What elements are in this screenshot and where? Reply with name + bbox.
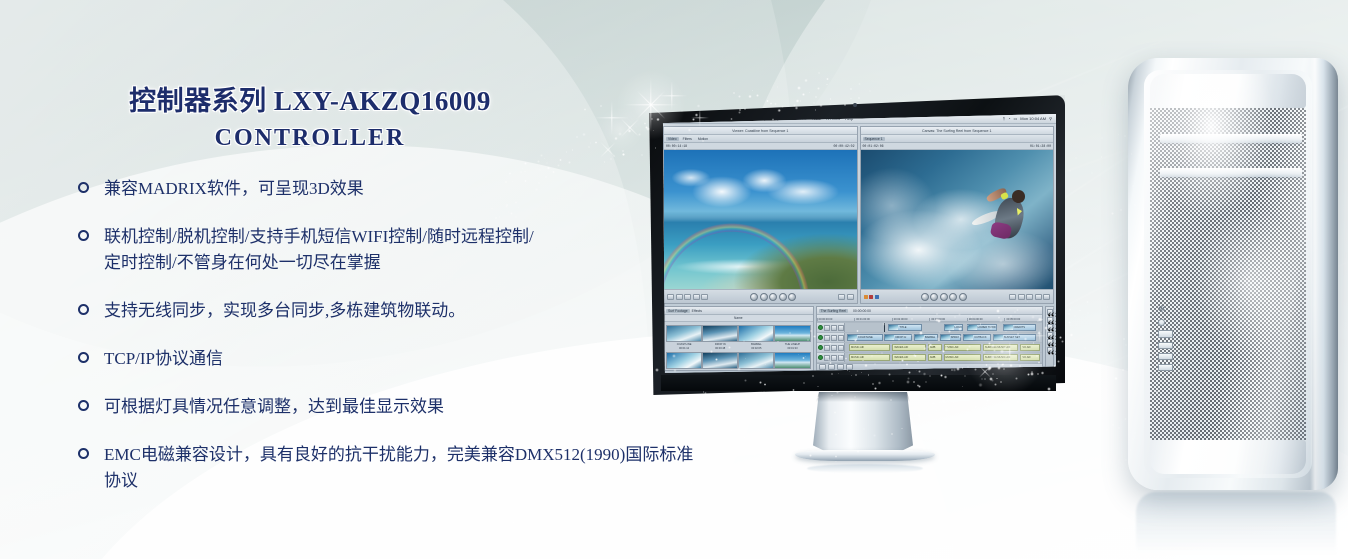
clip-label: MUSIC.AIF: [945, 356, 959, 359]
stand-reflection: [807, 464, 923, 473]
sparkle-dot: [708, 487, 709, 488]
clip-filmstrip-thumb: [889, 325, 898, 330]
clip-filmstrip-thumb: [1004, 325, 1013, 330]
sparkle-dot: [939, 437, 942, 440]
razor-tool-icon[interactable]: [1047, 317, 1053, 323]
search-icon[interactable]: ⚲: [1049, 116, 1052, 121]
sparkle-dot: [945, 419, 948, 422]
sparkle-dot: [970, 434, 971, 435]
optical-drive-slot-2[interactable]: [1160, 168, 1302, 177]
sparkle-dot: [770, 466, 773, 469]
surfer-head: [1012, 190, 1025, 203]
sparkle-dot: [1075, 157, 1077, 159]
track-lane[interactable]: MUSIC.AIFWAVES.AIFAMBMUSIC.AIFSURFING MU…: [845, 353, 1042, 362]
sparkle-dot: [1076, 324, 1077, 325]
sparkle-dot: [759, 433, 761, 435]
product-banner: 控制器系列 LXY-AKZQ16009 CONTROLLER 兼容MADRIX软…: [0, 0, 1348, 559]
clip-thumbnail: [702, 325, 738, 342]
clip-label: MUSIC.AIF: [850, 356, 864, 359]
crop-tool-icon[interactable]: [1047, 332, 1053, 338]
clip-label: LOWER THIRD: [977, 326, 996, 329]
clip-thumbnail: [774, 325, 810, 342]
camera-dot-icon: [853, 103, 857, 107]
track-toggle-icon[interactable]: [838, 355, 844, 361]
clip-name: THE LINEUP: [785, 343, 800, 346]
clip-filmstrip-thumb: [964, 335, 973, 340]
canvas-title: Canvas: The Surfing Reel from Sequence 1: [861, 127, 1054, 135]
perforated-mesh-panel-overlay: [1150, 108, 1306, 440]
sparkle-dot: [1074, 338, 1075, 339]
feature-text-line: 联机控制/脱机控制/支持手机短信WIFI控制/随时远程控制/: [104, 224, 700, 250]
sparkle-dot: [1120, 259, 1121, 260]
feature-text-line: 定时控制/不管身在何处一切尽在掌握: [104, 250, 700, 276]
clip-label: VO.AIF: [1021, 346, 1031, 349]
sparkle-dot: [1079, 310, 1080, 311]
feature-item: 支持无线同步，实现多台同步,多栋建筑物联动。: [104, 298, 700, 324]
timeline-clip[interactable]: VO.AIF: [1020, 344, 1040, 351]
clip-filmstrip-thumb: [848, 335, 857, 340]
sparkle-dot: [1118, 427, 1120, 429]
sparkle-dot: [1091, 350, 1094, 353]
headphone-jack-icon[interactable]: [1158, 319, 1165, 326]
tower-port-cluster[interactable]: ✻: [1158, 306, 1184, 371]
timeline-tab[interactable]: The Surfing Reel: [819, 309, 848, 313]
bullet-ring-icon: [78, 448, 89, 459]
sparkle-dot: [1079, 366, 1082, 369]
hand-tool-icon[interactable]: [1047, 347, 1053, 353]
canvas-overlay-chips[interactable]: [864, 295, 879, 299]
menu-bar-status-items[interactable]: ᛗ◔▭Mon 10:04 AM⚲: [1003, 116, 1052, 121]
sparkle-dot: [1007, 415, 1010, 418]
clip-name: BARREL: [751, 343, 761, 346]
video-editor-app:  Final Cut ProFileEditViewMarkModifySeq…: [661, 114, 1056, 373]
tower-computer: ✻: [1128, 58, 1338, 490]
feature-item: TCP/IP协议通信: [104, 346, 700, 372]
sparkle-dot: [1081, 219, 1082, 220]
sparkle-dot: [1093, 228, 1094, 229]
sparkle-dot: [1079, 443, 1081, 445]
sparkle-dot: [1090, 399, 1092, 401]
viewer-edit-buttons[interactable]: [838, 294, 854, 300]
sparkle-dot: [1016, 400, 1020, 404]
sparkle-dot: [1094, 120, 1095, 121]
clip-filmstrip-thumb: [885, 335, 894, 340]
sparkle-dot: [1067, 445, 1068, 446]
sparkle-dot: [1087, 312, 1089, 314]
timeline-clip[interactable]: SPRAY: [940, 334, 962, 341]
sparkle-dot: [1125, 344, 1127, 346]
clip-duration: 00:02:05: [751, 347, 761, 350]
sparkle-dot: [809, 92, 810, 93]
track-toggle-icon[interactable]: [838, 335, 844, 341]
sparkle-dot: [826, 84, 828, 86]
track-toggle-icon[interactable]: [831, 325, 837, 331]
sparkle-dot: [544, 517, 546, 519]
sparkle-dot: [1084, 123, 1085, 124]
track-toggle-icon[interactable]: [831, 355, 837, 361]
sparkle-dot: [797, 86, 801, 90]
lower-panels: Surf FootageEffects Name COASTLINE00:01:…: [661, 306, 1056, 373]
sparkle-dot: [952, 401, 955, 404]
tool-palette[interactable]: [1045, 306, 1054, 371]
timeline-clip[interactable]: MUSIC.AIF: [849, 344, 890, 351]
sparkle-dot: [1041, 398, 1044, 401]
optical-drive-slot-1[interactable]: [1160, 134, 1302, 143]
ruler-tick-label: 00:05:00:00: [1004, 318, 1042, 321]
feature-list: 兼容MADRIX软件，可呈现3D效果联机控制/脱机控制/支持手机短信WIFI控制…: [0, 176, 700, 494]
track-header[interactable]: [817, 333, 846, 342]
sparkle-dot: [768, 411, 770, 413]
timeline-clip[interactable]: BARREL: [914, 334, 938, 341]
clip-label: MUSIC.AIF: [945, 346, 959, 349]
page-title: 控制器系列 LXY-AKZQ16009: [30, 84, 590, 118]
sparkle-dot: [723, 444, 725, 446]
sparkle-dot: [1096, 404, 1097, 405]
track-enable-led-icon[interactable]: [818, 325, 823, 330]
sparkle-dot: [481, 538, 483, 540]
timeline-track[interactable]: MUSIC.AIFWAVES.AIFAMBMUSIC.AIFSURFING MU…: [817, 343, 1042, 352]
track-toggle-icon[interactable]: [824, 345, 830, 351]
sparkle-dot: [984, 406, 987, 409]
sparkle-dot: [743, 436, 746, 439]
clip-duration: 00:00:48: [715, 347, 725, 350]
clip-name: DROP IN: [715, 343, 726, 346]
sparkle-dot: [826, 78, 828, 80]
sparkle-dot: [489, 534, 491, 536]
sparkle-dot: [1036, 402, 1038, 404]
clip-filmstrip-thumb: [945, 325, 954, 330]
clip-label: CREDITS: [1013, 326, 1025, 329]
sparkle-dot: [998, 408, 1000, 410]
menu-bar-clock[interactable]: Mon 10:04 AM: [1020, 116, 1046, 121]
feature-text-line: 可根据灯具情况任意调整，达到最佳显示效果: [104, 394, 700, 420]
sparkle-dot: [1123, 338, 1125, 340]
sparkle-dot: [1077, 445, 1079, 447]
sparkle-dot: [1068, 321, 1072, 325]
feature-item: EMC电磁兼容设计，具有良好的抗干扰能力，完美兼容DMX512(1990)国际标…: [104, 442, 700, 494]
sparkle-dot: [1005, 408, 1008, 411]
usb-port-icon-3[interactable]: [1158, 364, 1173, 371]
timeline-clip[interactable]: SURFING MUSIC.AIF: [983, 344, 1018, 351]
page-subtitle: CONTROLLER: [30, 118, 590, 158]
sparkle-dot: [858, 83, 860, 85]
sparkle-dot: [738, 480, 739, 481]
clip-label: SURFING MUSIC.AIF: [984, 356, 1011, 359]
timeline-clip[interactable]: AMB: [928, 354, 942, 361]
canvas-edit-buttons[interactable]: [1009, 294, 1050, 300]
feature-text-line: EMC电磁兼容设计，具有良好的抗干扰能力，完美兼容DMX512(1990)国际标…: [104, 442, 700, 494]
sparkle-dot: [1073, 459, 1075, 461]
firewire-star-icon: ✻: [1158, 306, 1167, 315]
timeline-track[interactable]: TITLELOGOLOWER THIRDCREDITS: [817, 323, 1042, 332]
sparkle-dot: [1069, 324, 1071, 326]
feature-text-line: TCP/IP协议通信: [104, 346, 700, 372]
sparkle-dot: [1078, 375, 1080, 377]
track-toggle-icon[interactable]: [824, 355, 830, 361]
sparkle-dot: [817, 87, 820, 90]
sparkle-dot: [869, 90, 871, 92]
pen-tool-icon[interactable]: [1047, 339, 1053, 345]
sparkle-dot: [972, 423, 976, 427]
clip-label: COASTLINE: [857, 336, 873, 339]
feature-item: 兼容MADRIX软件，可呈现3D效果: [104, 176, 700, 202]
track-toggle-icon[interactable]: [824, 335, 830, 341]
timeline-panel[interactable]: The Surfing Reel00:00:00:00 00:00:00:000…: [816, 306, 1043, 371]
sparkle-dot: [1074, 315, 1076, 317]
viewer-playback-buttons[interactable]: [750, 293, 796, 301]
sparkle-dot: [1091, 172, 1093, 174]
bullet-ring-icon: [78, 304, 89, 315]
sparkle-dot: [1069, 170, 1071, 172]
battery-icon[interactable]: ▭: [1013, 116, 1017, 121]
timeline-clip[interactable]: DROP IN: [884, 334, 912, 341]
track-lane[interactable]: MUSIC.AIFWAVES.AIFAMBMUSIC.AIFSURFING MU…: [845, 343, 1042, 352]
sparkle-dot: [1122, 369, 1124, 371]
usb-port-icon-2[interactable]: [1158, 353, 1173, 360]
sparkle-dot: [987, 408, 989, 410]
display-screen:  Final Cut ProFileEditViewMarkModifySeq…: [661, 114, 1056, 373]
sparkle-dot: [1073, 350, 1074, 351]
timeline-clip[interactable]: LOWER THIRD: [967, 324, 997, 331]
sparkle-dot: [754, 454, 756, 456]
display-chin: [661, 375, 1056, 391]
sparkle-dot: [1107, 153, 1108, 154]
sparkle-dot: [850, 88, 852, 90]
browser-clip-item[interactable]: DROP IN00:00:48: [703, 325, 737, 350]
timeline-clip[interactable]: MUSIC.AIF: [944, 354, 981, 361]
timeline-track[interactable]: COASTLINEDROP INBARRELSPRAYCUTBACKSUNSET…: [817, 333, 1042, 342]
track-header[interactable]: [817, 343, 846, 352]
sparkle-dot: [1022, 400, 1024, 402]
timeline-clip[interactable]: SURFING MUSIC.AIF: [983, 354, 1018, 361]
feature-text-line: 兼容MADRIX软件，可呈现3D效果: [104, 176, 700, 202]
timeline-tracks[interactable]: TITLELOGOLOWER THIRDCREDITSCOASTLINEDROP…: [817, 322, 1042, 363]
browser-clip-item[interactable]: SUNSET SET00:03:10: [775, 352, 809, 370]
copy-column: 控制器系列 LXY-AKZQ16009 CONTROLLER 兼容MADRIX软…: [0, 0, 700, 516]
timeline-clip[interactable]: TITLE: [888, 324, 922, 331]
playhead[interactable]: [884, 323, 885, 332]
clip-label: VO.AIF: [1021, 356, 1031, 359]
clip-thumbnail: [702, 352, 738, 369]
sparkle-dot: [1100, 322, 1102, 324]
timeline-clip[interactable]: VO.AIF: [1020, 354, 1040, 361]
sparkle-dot: [1068, 428, 1069, 429]
track-enable-led-icon[interactable]: [818, 355, 823, 360]
track-lane[interactable]: TITLELOGOLOWER THIRDCREDITS: [845, 323, 1042, 332]
sparkle-dot: [1081, 155, 1082, 156]
clip-label: AMB: [929, 356, 936, 359]
sparkle-dot: [1113, 395, 1114, 396]
clip-label: AMB: [929, 346, 936, 349]
canvas-timecode-right: 01:01:28:00: [1030, 144, 1051, 148]
sparkle-dot: [1124, 418, 1126, 420]
sparkle-dot: [740, 477, 743, 480]
track-enable-led-icon[interactable]: [818, 345, 823, 350]
browser-clip-item[interactable]: CUTBACK00:00:52: [739, 352, 773, 370]
sparkle-dot: [1112, 424, 1114, 426]
ruler-tick-label: 00:00:00:00: [817, 318, 855, 321]
sparkle-dot: [804, 79, 808, 83]
browser-clip-item[interactable]: PADDLE OUT00:01:04: [703, 352, 737, 370]
sparkle-dot: [756, 398, 760, 402]
sparkle-dot: [1051, 398, 1053, 400]
sparkle-dot: [1025, 413, 1027, 415]
browser-clip-item[interactable]: BARREL00:02:05: [739, 325, 773, 350]
browser-clip-item[interactable]: THE LINEUP00:01:33: [775, 325, 809, 350]
sparkle-dot: [960, 436, 963, 439]
wifi-icon[interactable]: ◔: [1008, 116, 1010, 121]
sparkle-dot: [1112, 280, 1113, 281]
clip-label: SPRAY: [950, 336, 960, 339]
bullet-ring-icon: [78, 182, 89, 193]
track-lane[interactable]: COASTLINEDROP INBARRELSPRAYCUTBACKSUNSET…: [845, 333, 1042, 342]
sparkle-dot: [777, 86, 779, 88]
timeline-ruler[interactable]: 00:00:00:0000:01:00:0000:02:00:0000:03:0…: [817, 315, 1042, 322]
ruler-tick-label: 00:02:00:00: [892, 318, 930, 321]
clip-label: WAVES.AIF: [893, 356, 908, 359]
sparkle-dot: [942, 399, 946, 403]
sparkle-dot: [438, 521, 441, 524]
sparkle-dot: [1070, 333, 1074, 337]
sparkle-dot: [1112, 355, 1114, 357]
sparkle-dot: [1108, 403, 1110, 405]
clip-duration: 00:01:33: [787, 347, 797, 350]
tower-reflection: [1136, 492, 1336, 554]
viewer-row: Viewer: Coastline from Sequence 1 VideoF…: [661, 124, 1056, 306]
sparkle-dot: [1120, 209, 1122, 211]
firewire-port-icon[interactable]: [1158, 330, 1173, 338]
sparkle-dot: [752, 90, 753, 91]
timeline-clip[interactable]: LOGO: [944, 324, 964, 331]
zoom-tool-icon[interactable]: [1047, 324, 1053, 330]
sparkle-dot: [748, 421, 751, 424]
sparkle-dot: [1068, 360, 1069, 361]
usb-port-icon-1[interactable]: [1158, 342, 1173, 349]
sparkle-dot: [991, 413, 993, 415]
sparkle-dot: [1068, 313, 1069, 314]
track-toggle-icon[interactable]: [838, 345, 844, 351]
sparkle-dot: [727, 469, 728, 470]
canvas-tabs[interactable]: Sequence 1: [861, 135, 1054, 143]
sparkle-dot: [1094, 380, 1096, 382]
sparkle-dot: [1111, 212, 1114, 215]
sparkle-dot: [1095, 386, 1097, 388]
clip-label: LOGO: [954, 326, 963, 329]
clip-filmstrip-thumb: [994, 335, 1003, 340]
timeline-clip[interactable]: WAVES.AIF: [892, 354, 926, 361]
sparkle-dot: [793, 440, 794, 441]
tower-top-cap: [1150, 74, 1306, 108]
sparkle-dot: [1118, 134, 1119, 135]
timeline-clip[interactable]: SUNSET SET: [993, 334, 1036, 341]
sparkle-dot: [1069, 308, 1072, 311]
canvas-panel[interactable]: Canvas: The Surfing Reel from Sequence 1…: [860, 126, 1055, 304]
timeline-clip[interactable]: CUTBACK: [963, 334, 991, 341]
bluetooth-icon[interactable]: ᛗ: [1003, 116, 1005, 121]
ruler-tick-label: 00:03:00:00: [929, 318, 967, 321]
sparkle-dot: [1067, 313, 1068, 314]
clip-label: TITLE: [898, 326, 906, 329]
surfer-wave-clip: [861, 150, 1054, 289]
timeline-track[interactable]: MUSIC.AIFWAVES.AIFAMBMUSIC.AIFSURFING MU…: [817, 353, 1042, 362]
canvas-transport-bar[interactable]: [861, 289, 1054, 303]
track-header[interactable]: [817, 353, 846, 362]
sparkle-dot: [818, 72, 820, 74]
canvas-timecode-bar: 00:01:02:06 01:01:28:00: [861, 143, 1054, 150]
track-toggle-icon[interactable]: [831, 345, 837, 351]
track-toggle-icon[interactable]: [831, 335, 837, 341]
ruler-tick-label: 00:01:00:00: [854, 318, 892, 321]
sparkle-dot: [1101, 137, 1102, 138]
sparkle-dot: [1098, 437, 1100, 439]
track-toggle-icon[interactable]: [824, 325, 830, 331]
tower-front-panel: ✻: [1144, 70, 1312, 478]
track-header[interactable]: [817, 323, 846, 332]
sparkle-dot: [1119, 420, 1120, 421]
sparkle-dot: [1084, 347, 1086, 349]
clip-filmstrip-thumb: [915, 335, 924, 340]
sparkle-dot: [774, 425, 776, 427]
sparkle-dot: [1057, 402, 1059, 404]
sparkle-dot: [1086, 301, 1089, 304]
sparkle-dot: [746, 460, 749, 463]
track-enable-led-icon[interactable]: [818, 335, 823, 340]
sparkle-dot: [945, 409, 948, 412]
timeline-clip[interactable]: AMB: [928, 344, 942, 351]
sparkle-dot: [1029, 396, 1031, 398]
feature-item: 可根据灯具情况任意调整，达到最佳显示效果: [104, 394, 700, 420]
clip-filmstrip-thumb: [968, 325, 976, 330]
bullet-ring-icon: [78, 352, 89, 363]
timeline-clip[interactable]: MUSIC.AIF: [944, 344, 981, 351]
sparkle-dot: [986, 399, 989, 402]
timeline-clip[interactable]: CREDITS: [1003, 324, 1037, 331]
viewer-timecode-right: 00:00:42:02: [833, 144, 854, 148]
timeline-clip[interactable]: COASTLINE: [847, 334, 882, 341]
sparkle-dot: [1033, 412, 1034, 413]
selection-tool-icon[interactable]: [1047, 309, 1053, 315]
tower-bottom-cap: [1150, 440, 1306, 474]
timeline-tabs[interactable]: The Surfing Reel00:00:00:00: [817, 307, 1042, 315]
sparkle-dot: [1066, 254, 1067, 255]
display-stand: [795, 392, 935, 477]
ruler-tick-label: 00:04:00:00: [967, 318, 1005, 321]
canvas-tab[interactable]: Sequence 1: [863, 137, 885, 141]
sparkle-dot: [1042, 399, 1045, 402]
clip-label: DROP IN: [894, 336, 906, 339]
timeline-clip[interactable]: WAVES.AIF: [892, 344, 926, 351]
title-block: 控制器系列 LXY-AKZQ16009 CONTROLLER: [30, 0, 590, 158]
timeline-clip[interactable]: MUSIC.AIF: [849, 354, 890, 361]
sparkle-dot: [985, 401, 989, 405]
timeline-timecode: 00:00:00:00: [853, 309, 871, 313]
sparkle-dot: [1078, 388, 1081, 391]
clip-label: BARREL: [924, 336, 935, 339]
canvas-playback-buttons[interactable]: [921, 293, 967, 301]
track-toggle-icon[interactable]: [838, 325, 844, 331]
sparkle-dot: [764, 468, 766, 470]
clip-label: MUSIC.AIF: [850, 346, 864, 349]
sparkle-dot: [935, 409, 938, 412]
bullet-ring-icon: [78, 400, 89, 411]
clip-thumbnail: [738, 325, 774, 342]
tower-right-edge: [1310, 58, 1338, 490]
sparkle-dot: [1090, 389, 1091, 390]
sparkle-dot: [957, 401, 959, 403]
clip-label: SUNSET SET: [1003, 336, 1020, 339]
sparkle-dot: [1023, 415, 1025, 417]
clip-label: WAVES.AIF: [893, 346, 908, 349]
